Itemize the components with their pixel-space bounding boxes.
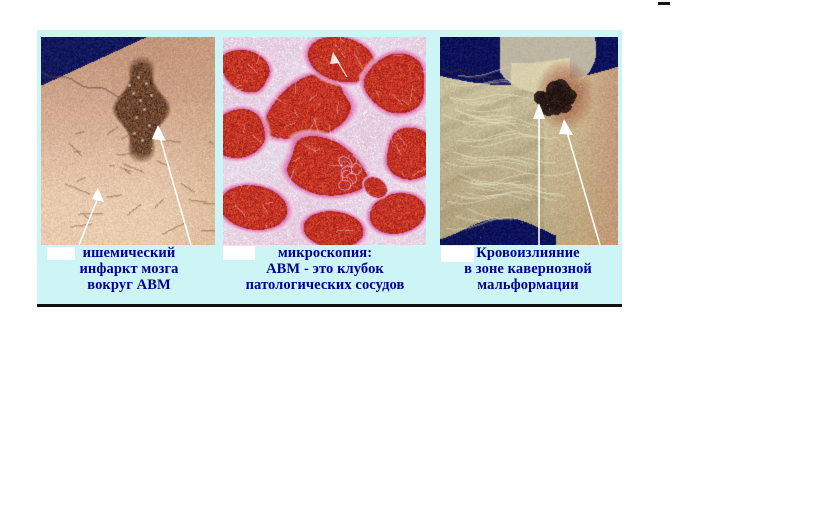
- caption-panel-2: микроскопия: АВМ - это клубок патологиче…: [219, 245, 431, 293]
- caption-marker-3: [441, 246, 474, 262]
- caption-2-line-3: патологических сосудов: [219, 277, 431, 293]
- stray-dash-mark: [658, 2, 670, 5]
- gross-brain-ischemic-infarct-photo: [41, 37, 215, 245]
- caption-panel-1: ишемический инфаркт мозга вокруг АВМ: [39, 245, 219, 293]
- caption-2-line-2: АВМ - это клубок: [219, 261, 431, 277]
- slide-container: ишемический инфаркт мозга вокруг АВМ мик…: [37, 30, 622, 307]
- histology-avm-vessel-tangle-photo: [223, 37, 426, 245]
- figure-panel-2: [223, 37, 426, 245]
- caption-marker-2: [223, 246, 255, 260]
- caption-panel-3: Кровоизлияние в зоне кавернозной мальфор…: [435, 245, 621, 293]
- caption-1-line-3: вокруг АВМ: [39, 277, 219, 293]
- caption-marker-1: [47, 247, 75, 260]
- figure-panel-3: [440, 37, 618, 245]
- caption-3-line-3: мальформации: [435, 277, 621, 293]
- caption-1-line-2: инфаркт мозга: [39, 261, 219, 277]
- figure-row: [37, 30, 622, 245]
- gross-brain-cavernous-malformation-photo: [440, 37, 618, 245]
- caption-3-line-2: в зоне кавернозной: [435, 261, 621, 277]
- figure-panel-1: [41, 37, 215, 245]
